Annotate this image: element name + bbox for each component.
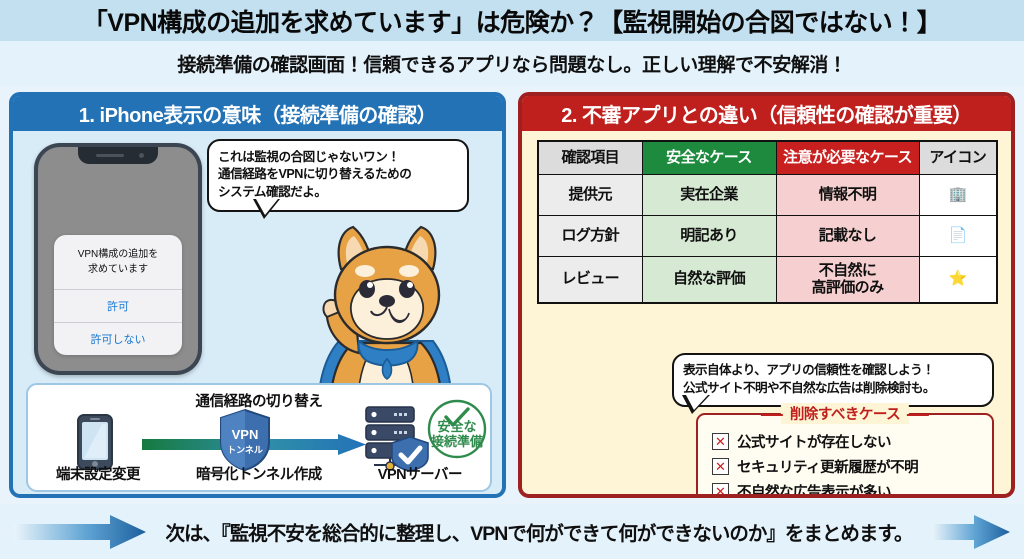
arrow-right-icon-secondary xyxy=(932,514,1010,550)
ios-vpn-alert: VPN構成の追加を 求めています 許可 許可しない xyxy=(54,235,182,355)
left-panel-body: VPN構成の追加を 求めています 許可 許可しない これは監視の合図じゃないワン… xyxy=(13,131,502,494)
flow-step-0: 端末設定変更 xyxy=(56,463,140,484)
cell-safe: 自然な評価 xyxy=(642,256,776,303)
safe-connection-stamp-icon: 安全な 接続準備 xyxy=(426,398,488,460)
page-subtitle: 接続準備の確認画面！信頼できるアプリなら問題なし。正しい理解で不安解消！ xyxy=(177,50,846,77)
table-header-row: 確認項目 安全なケース 注意が必要なケース アイコン xyxy=(538,141,997,174)
delete-case-label: セキュリティ更新履歴が不明 xyxy=(737,456,918,477)
flow-step-labels: 端末設定変更 暗号化トンネル作成 VPNサーバー xyxy=(28,463,490,484)
cell-warn-line2: 高評価のみ xyxy=(779,279,917,297)
table-row: 提供元 実在企業 情報不明 🏢 xyxy=(538,174,997,215)
delete-case-label: 不自然な広告表示が多い xyxy=(737,481,891,498)
alert-message: VPN構成の追加を 求めています xyxy=(54,235,182,289)
building-icon: 🏢 xyxy=(919,174,997,215)
list-item: ✕ セキュリティ更新履歴が不明 xyxy=(712,456,992,477)
table-row: レビュー 自然な評価 不自然に 高評価のみ ⭐ xyxy=(538,256,997,303)
delete-cases-box: 削除すべきケース ✕ 公式サイトが存在しない ✕ セキュリティ更新履歴が不明 ✕… xyxy=(696,413,994,498)
iphone-mockup: VPN構成の追加を 求めています 許可 許可しない xyxy=(34,143,202,375)
left-speech-line3: システム確認だよ。 xyxy=(218,184,458,201)
flow-step-2: VPNサーバー xyxy=(378,463,462,484)
alert-allow-button[interactable]: 許可 xyxy=(54,289,182,322)
svg-text:VPN: VPN xyxy=(232,427,259,442)
svg-text:トンネル: トンネル xyxy=(227,445,263,455)
x-mark-icon: ✕ xyxy=(712,458,729,475)
x-mark-icon: ✕ xyxy=(712,483,729,498)
col-header-item: 確認項目 xyxy=(538,141,642,174)
delete-cases-title: 削除すべきケース xyxy=(781,403,909,424)
left-speech-line2: 通信経路をVPNに切り替えるための xyxy=(218,166,458,183)
title-bar: 「VPN構成の追加を求めています」は危険か？【監視開始の合図ではない！】 xyxy=(0,0,1024,41)
comparison-table: 確認項目 安全なケース 注意が必要なケース アイコン 提供元 実在企業 情報不明… xyxy=(537,140,998,304)
vpn-server-icon xyxy=(358,405,432,471)
subtitle-bar: 接続準備の確認画面！信頼できるアプリなら問題なし。正しい理解で不安解消！ xyxy=(0,41,1024,86)
cell-warn: 記載なし xyxy=(776,215,919,256)
infographic-page: 「VPN構成の追加を求めています」は危険か？【監視開始の合図ではない！】 接続準… xyxy=(0,0,1024,559)
page-title: 「VPN構成の追加を求めています」は危険か？【監視開始の合図ではない！】 xyxy=(83,3,941,39)
speaker-icon xyxy=(96,154,124,157)
alert-deny-button[interactable]: 許可しない xyxy=(54,322,182,355)
cell-warn: 情報不明 xyxy=(776,174,919,215)
alert-message-line2: 求めています xyxy=(62,263,174,278)
vpn-flow-diagram: 通信経路の切り替え xyxy=(26,383,492,492)
right-panel-heading: 2. 不審アプリとの違い（信頼性の確認が重要） xyxy=(522,96,1011,131)
cell-item: ログ方針 xyxy=(538,215,642,256)
iphone-screen: VPN構成の追加を 求めています 許可 許可しない xyxy=(38,147,198,371)
document-icon: 📄 xyxy=(919,215,997,256)
list-item: ✕ 公式サイトが存在しない xyxy=(712,431,992,452)
cell-item: レビュー xyxy=(538,256,642,303)
right-panel-body: 確認項目 安全なケース 注意が必要なケース アイコン 提供元 実在企業 情報不明… xyxy=(522,131,1011,494)
panel-iphone-meaning: 1. iPhone表示の意味（接続準備の確認） VPN構成の追加を 求めています… xyxy=(9,92,506,498)
col-header-icon: アイコン xyxy=(919,141,997,174)
iphone-notch xyxy=(78,147,158,164)
camera-icon xyxy=(139,153,144,158)
alert-message-line1: VPN構成の追加を xyxy=(62,248,174,263)
dog-speech-bubble-right: 表示自体より、アプリの信頼性を確認しよう！ 公式サイト不明や不自然な広告は削除検… xyxy=(672,353,994,407)
footer-bar: 次は、『監視不安を総合的に整理し、VPNで何ができて何ができないのか』をまとめま… xyxy=(0,504,1024,559)
svg-text:安全な: 安全な xyxy=(437,419,476,434)
arrow-right-icon xyxy=(14,514,146,550)
right-speech-line2: 公式サイト不明や不自然な広告は削除検討も。 xyxy=(683,380,983,398)
cell-warn-line1: 不自然に xyxy=(779,262,917,280)
star-icon: ⭐ xyxy=(919,256,997,303)
delete-case-label: 公式サイトが存在しない xyxy=(737,431,891,452)
panel-suspicious-app-difference: 2. 不審アプリとの違い（信頼性の確認が重要） 確認項目 安全なケース 注意が必… xyxy=(518,92,1015,498)
left-panel-heading: 1. iPhone表示の意味（接続準備の確認） xyxy=(13,96,502,131)
dog-speech-bubble-left: これは監視の合図じゃないワン！ 通信経路をVPNに切り替えるための システム確認… xyxy=(207,139,469,212)
cell-warn: 不自然に 高評価のみ xyxy=(776,256,919,303)
col-header-warn: 注意が必要なケース xyxy=(776,141,919,174)
cell-safe: 明記あり xyxy=(642,215,776,256)
left-speech-line1: これは監視の合図じゃないワン！ xyxy=(218,149,458,166)
right-speech-line1: 表示自体より、アプリの信頼性を確認しよう！ xyxy=(683,362,983,380)
cell-safe: 実在企業 xyxy=(642,174,776,215)
col-header-safe: 安全なケース xyxy=(642,141,776,174)
footer-text: 次は、『監視不安を総合的に整理し、VPNで何ができて何ができないのか』をまとめま… xyxy=(146,517,932,546)
list-item: ✕ 不自然な広告表示が多い xyxy=(712,481,992,498)
table-row: ログ方針 明記あり 記載なし 📄 xyxy=(538,215,997,256)
delete-cases-list: ✕ 公式サイトが存在しない ✕ セキュリティ更新履歴が不明 ✕ 不自然な広告表示… xyxy=(698,415,992,498)
cell-item: 提供元 xyxy=(538,174,642,215)
x-mark-icon: ✕ xyxy=(712,433,729,450)
svg-text:接続準備: 接続準備 xyxy=(431,434,483,449)
flow-step-1: 暗号化トンネル作成 xyxy=(196,463,322,484)
